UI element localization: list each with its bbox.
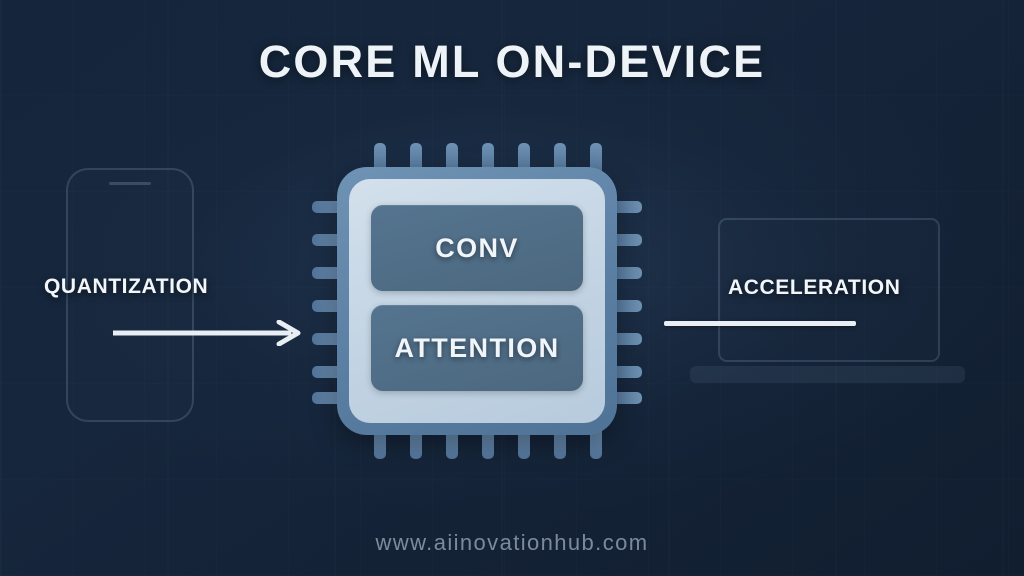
slide-canvas: CORE ML ON-DEVICE QUANTIZATION ACCELERAT… <box>0 0 1024 576</box>
arrow-right-icon <box>113 320 305 346</box>
site-watermark: www.aiinovationhub.com <box>0 530 1024 556</box>
page-title: CORE ML ON-DEVICE <box>0 36 1024 88</box>
core-block-attention[interactable]: ATTENTION <box>371 305 583 391</box>
horizontal-line-icon <box>664 321 856 326</box>
laptop-base-icon <box>690 366 965 383</box>
cpu-chip-icon: CONV ATTENTION <box>312 143 642 459</box>
acceleration-label: ACCELERATION <box>728 276 900 300</box>
chip-body: CONV ATTENTION <box>349 179 605 423</box>
phone-speaker-icon <box>109 182 151 185</box>
core-block-conv[interactable]: CONV <box>371 205 583 291</box>
chip-frame: CONV ATTENTION <box>337 167 617 435</box>
core-block-attention-label: ATTENTION <box>394 333 559 364</box>
quantization-label: QUANTIZATION <box>44 275 208 299</box>
core-block-conv-label: CONV <box>435 233 519 264</box>
